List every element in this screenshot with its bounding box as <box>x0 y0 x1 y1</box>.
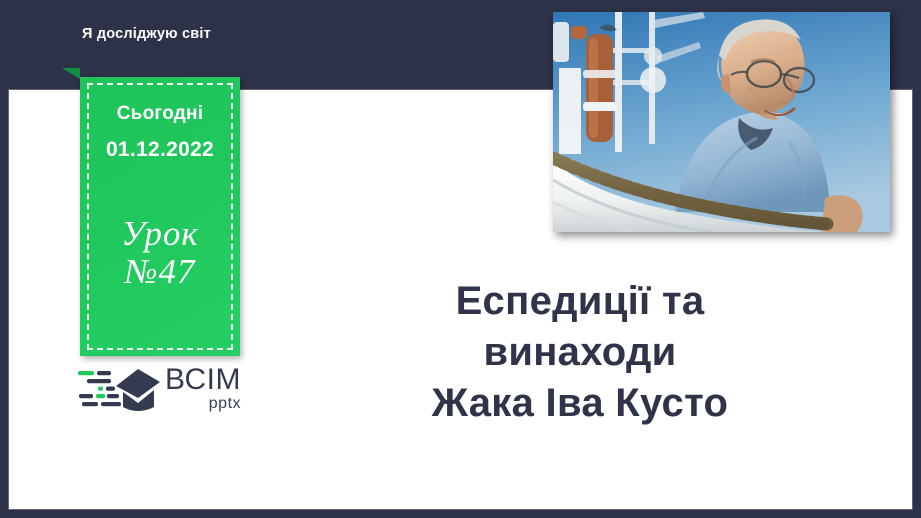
date-card-fold-corner <box>62 68 80 79</box>
date-lesson-card: Сьогодні 01.12.2022 Урок №47 <box>80 77 240 356</box>
brand-wordmark: ВСІМ pptx <box>165 365 241 412</box>
lesson-label: Урок <box>121 216 199 252</box>
lesson-number: №47 <box>124 254 195 290</box>
brand-suffix: pptx <box>165 396 241 412</box>
presentation-slide: Я досліджую світ Сьогодні 01.12.2022 Уро… <box>0 0 921 518</box>
title-line-1: Еспедиції та <box>330 276 830 327</box>
course-label: Я досліджую світ <box>82 26 211 42</box>
cousteau-photo-illustration <box>553 12 890 232</box>
brand-logo: ВСІМ pptx <box>76 362 244 414</box>
title-line-2: винаходи <box>330 327 830 378</box>
today-label: Сьогодні <box>117 103 203 125</box>
slide-title: Еспедиції та винаходи Жака Іва Кусто <box>330 276 830 430</box>
brand-name: ВСІМ <box>165 365 241 395</box>
date-card-content: Сьогодні 01.12.2022 Урок №47 <box>80 77 240 356</box>
today-date-value: 01.12.2022 <box>106 138 214 162</box>
title-line-3: Жака Іва Кусто <box>330 378 830 429</box>
graduation-cap-icon <box>76 363 162 413</box>
cousteau-photo <box>553 12 890 232</box>
